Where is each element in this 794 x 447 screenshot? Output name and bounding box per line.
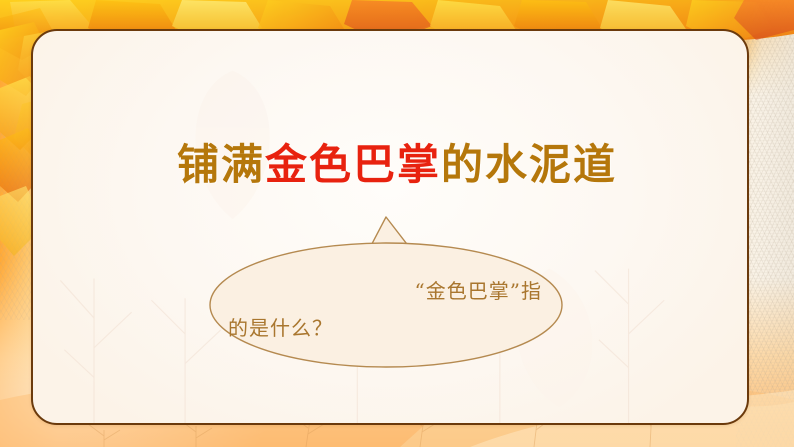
balloon-line-2: 的是什么？ bbox=[218, 310, 554, 347]
balloon-text: “金色巴掌”指 的是什么？ bbox=[196, 273, 576, 347]
page-title: 铺满金色巴掌的水泥道 bbox=[0, 142, 794, 187]
title-segment-gold-1: 铺满 bbox=[177, 140, 265, 189]
presentation-slide: 铺满金色巴掌的水泥道 “金色巴掌”指 的是什么？ bbox=[0, 0, 794, 447]
title-segment-gold-2: 的水泥道 bbox=[441, 140, 617, 189]
balloon-line-1: “金色巴掌”指 bbox=[218, 273, 554, 310]
question-balloon[interactable]: “金色巴掌”指 的是什么？ bbox=[196, 215, 576, 370]
title-segment-red: 金色巴掌 bbox=[265, 140, 441, 189]
